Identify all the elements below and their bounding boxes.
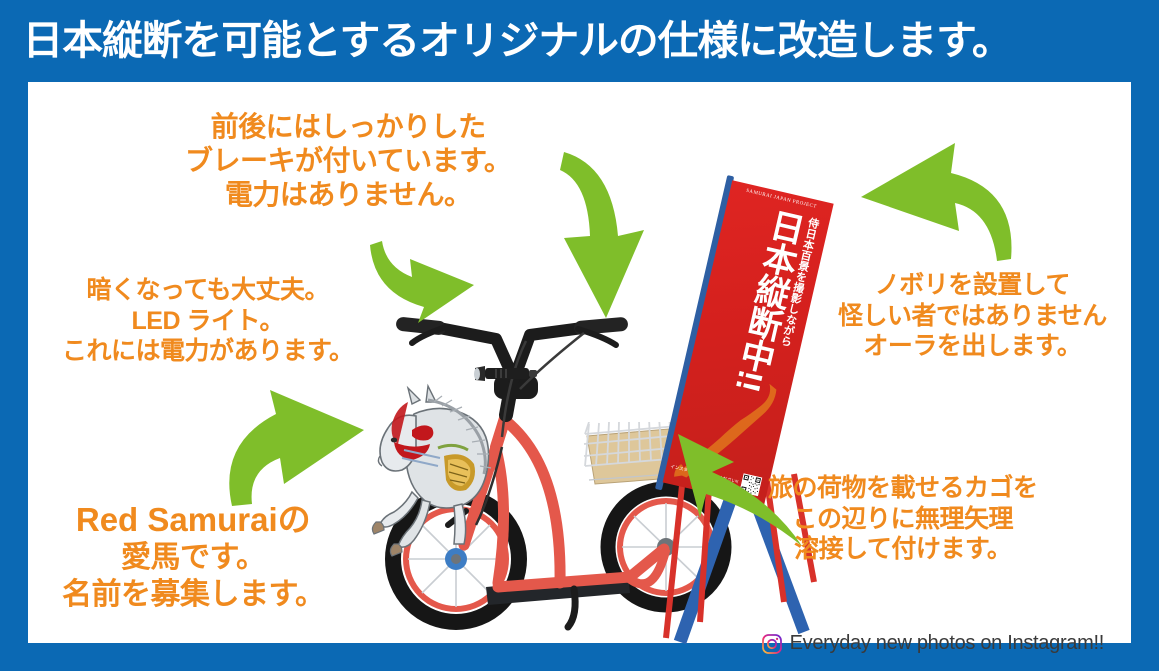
annotation-led-line-3: これには電力があります。 <box>62 336 354 367</box>
page-title: 日本縦断を可能とするオリジナルの仕様に改造します。 <box>0 21 1012 61</box>
annotation-horse-line-1: Red Samuraiの <box>62 500 325 540</box>
instagram-footer-text: Everyday new photos on Instagram!! <box>790 632 1104 655</box>
arrow-to-brake-rear-icon <box>560 148 680 323</box>
led-flashlight <box>473 364 539 384</box>
annotation-brake-line-1: 前後にはしっかりした <box>185 110 511 144</box>
annotation-led-line-2: LED ライト。 <box>62 306 354 337</box>
annotation-horse-line-2: 愛馬です。 <box>62 540 325 577</box>
header-bar: 日本縦断を可能とするオリジナルの仕様に改造します。 <box>0 0 1159 82</box>
annotation-basket-line-3: 溶接して付けます。 <box>768 534 1038 565</box>
arrow-to-nobori-icon <box>855 125 1015 265</box>
annotation-led: 暗くなっても大丈夫。 LED ライト。 これには電力があります。 <box>62 275 354 367</box>
horse-mascot-illustration <box>368 382 518 572</box>
annotation-nobori: ノボリを設置して 怪しい者ではありません オーラを出します。 <box>838 270 1107 362</box>
annotation-basket-line-2: この辺りに無理矢理 <box>768 504 1038 535</box>
annotation-horse-line-3: 名前を募集します。 <box>62 577 325 614</box>
annotation-brake-line-3: 電力はありません。 <box>185 178 511 212</box>
arrow-to-brake-front-icon <box>368 215 488 325</box>
annotation-nobori-line-1: ノボリを設置して <box>838 270 1107 301</box>
instagram-icon <box>762 634 782 654</box>
annotation-led-line-1: 暗くなっても大丈夫。 <box>62 275 354 306</box>
annotation-basket-line-1: 旅の荷物を載せるカゴを <box>768 473 1038 504</box>
annotation-brake-line-2: ブレーキが付いています。 <box>185 144 511 178</box>
annotation-nobori-line-3: オーラを出します。 <box>838 331 1107 362</box>
annotation-brake: 前後にはしっかりした ブレーキが付いています。 電力はありません。 <box>185 110 511 212</box>
annotation-horse: Red Samuraiの 愛馬です。 名前を募集します。 <box>62 500 325 613</box>
annotation-basket: 旅の荷物を載せるカゴを この辺りに無理矢理 溶接して付けます。 <box>768 473 1038 565</box>
arrow-to-led-light-icon <box>222 388 372 508</box>
instagram-footer[interactable]: Everyday new photos on Instagram!! <box>762 632 1104 655</box>
annotation-nobori-line-2: 怪しい者ではありません <box>838 301 1107 332</box>
